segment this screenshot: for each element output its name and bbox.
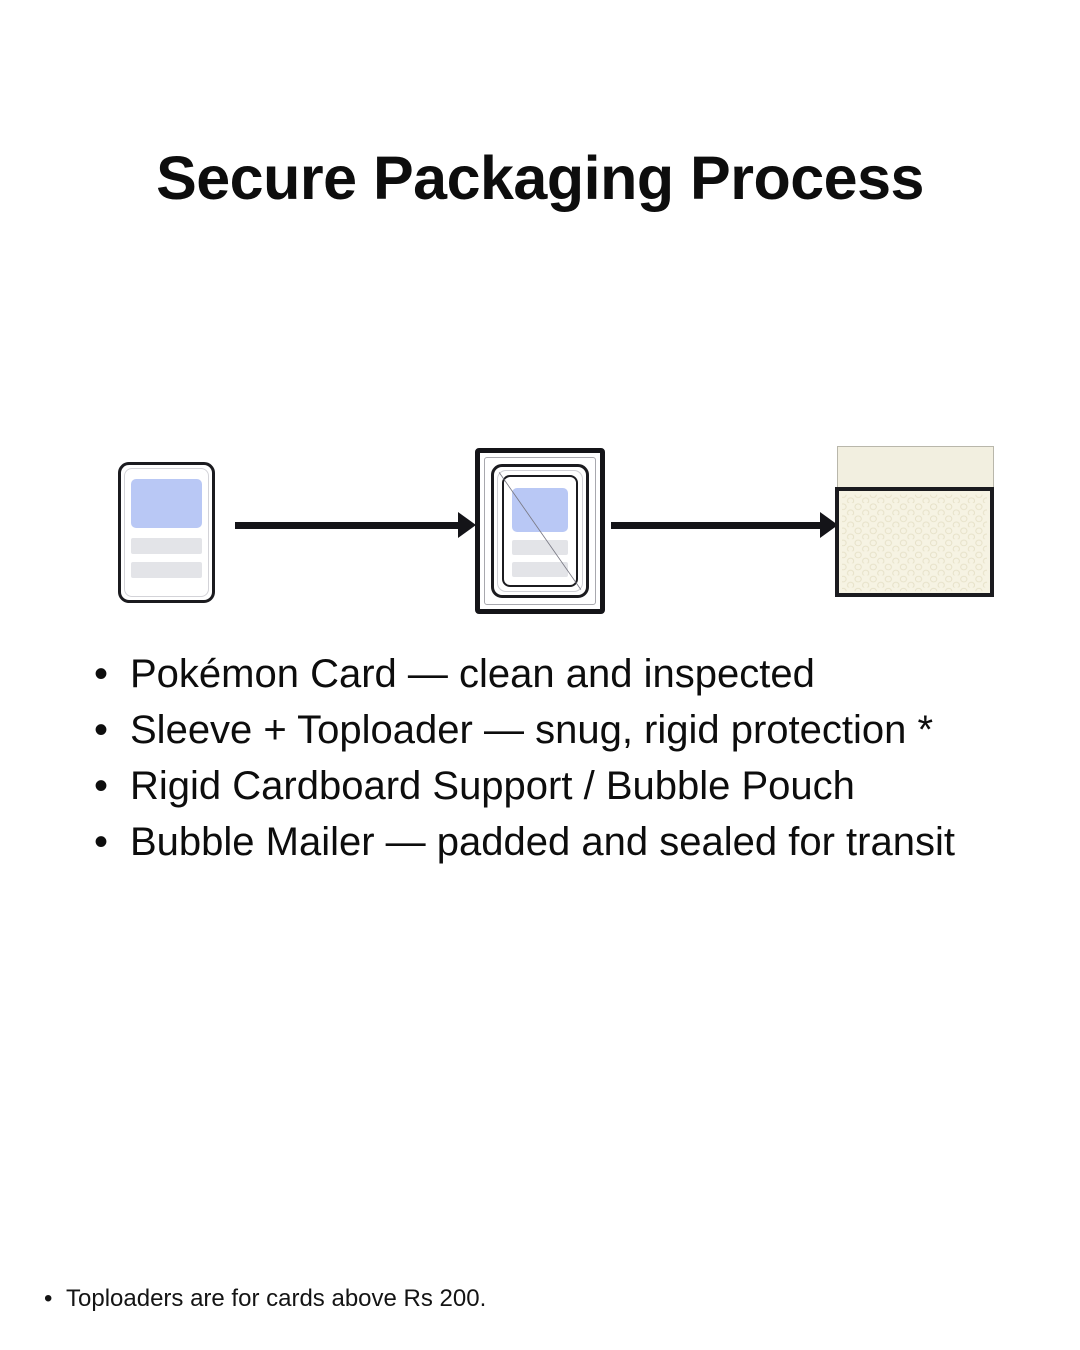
bullet-marker: • bbox=[94, 814, 108, 870]
card-artwork-icon bbox=[512, 488, 568, 532]
footnote-section: • Toploaders are for cards above Rs 200. bbox=[0, 1282, 1080, 1316]
footnote-label: Toploaders are for cards above Rs 200. bbox=[66, 1285, 486, 1312]
footnote-item: • Toploaders are for cards above Rs 200. bbox=[0, 1282, 1080, 1316]
diagram-stage-pokemon-card bbox=[118, 462, 215, 603]
list-item-label: Sleeve + Toploader — snug, rigid protect… bbox=[130, 708, 933, 752]
packaging-steps-list: • Pokémon Card — clean and inspected • S… bbox=[0, 646, 1080, 870]
card-text-bar-1 bbox=[131, 538, 202, 554]
card-sleeve bbox=[491, 464, 589, 598]
list-item-label: Pokémon Card — clean and inspected bbox=[130, 652, 815, 696]
mailer-flap bbox=[837, 446, 994, 488]
page-title: Secure Packaging Process bbox=[0, 145, 1080, 212]
bullet-marker: • bbox=[94, 758, 108, 814]
arrow-1-head-icon bbox=[458, 512, 476, 538]
list-item: • Bubble Mailer — padded and sealed for … bbox=[0, 814, 1080, 870]
list-item-label: Rigid Cardboard Support / Bubble Pouch bbox=[130, 764, 855, 808]
list-item-label: Bubble Mailer — padded and sealed for tr… bbox=[130, 820, 955, 864]
card-text-bar-2 bbox=[131, 562, 202, 578]
mailer-body bbox=[835, 487, 994, 597]
card-text-bar-2 bbox=[512, 562, 568, 577]
footnote-bullet-marker: • bbox=[44, 1282, 52, 1316]
arrow-2-shaft bbox=[611, 522, 822, 529]
packaging-process-diagram bbox=[0, 430, 1080, 630]
list-item: • Pokémon Card — clean and inspected bbox=[0, 646, 1080, 702]
card-text-bar-1 bbox=[512, 540, 568, 555]
bullet-marker: • bbox=[94, 646, 108, 702]
list-item: • Sleeve + Toploader — snug, rigid prote… bbox=[0, 702, 1080, 758]
sleeved-pokemon-card bbox=[502, 475, 578, 587]
bubble-wrap-pattern-icon bbox=[839, 491, 990, 593]
bullet-marker: • bbox=[94, 702, 108, 758]
diagram-stage-bubble-mailer bbox=[835, 446, 994, 597]
card-artwork-icon bbox=[131, 479, 202, 528]
list-item: • Rigid Cardboard Support / Bubble Pouch bbox=[0, 758, 1080, 814]
arrow-1-shaft bbox=[235, 522, 461, 529]
diagram-stage-sleeve-toploader bbox=[475, 448, 605, 614]
